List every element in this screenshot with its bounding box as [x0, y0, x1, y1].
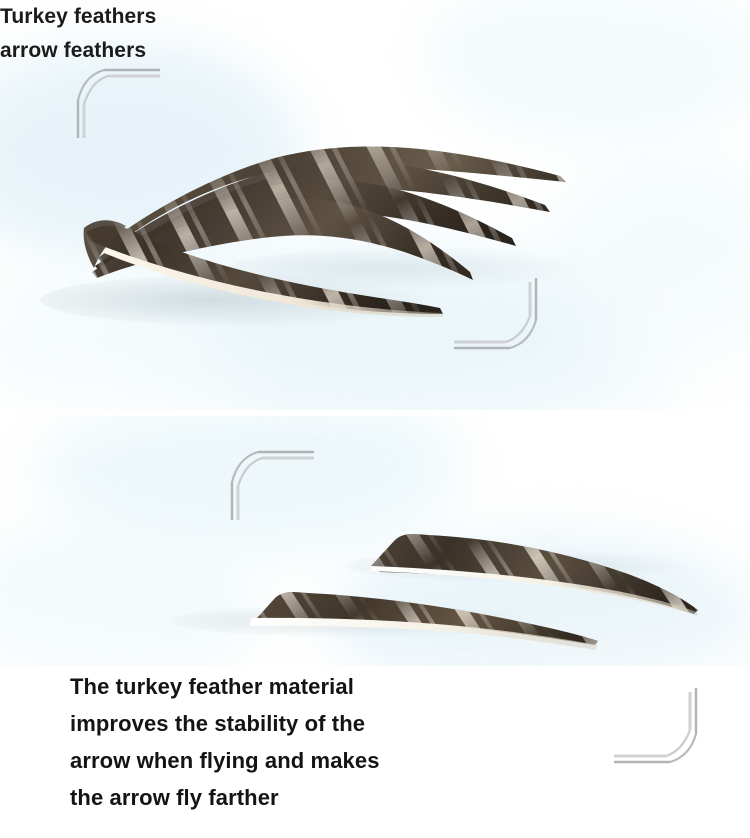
- headline-line-2: arrow feathers: [0, 34, 750, 68]
- product-photo-fletching-pair: [0, 416, 750, 666]
- headline-line-1: Turkey feathers: [0, 0, 750, 34]
- fletching-feather: [250, 592, 598, 650]
- headline-block: Turkey feathers arrow feathers: [0, 0, 750, 68]
- caption-line-2: improves the stability of the: [70, 705, 380, 742]
- fletching-pair-illustration: [0, 416, 750, 666]
- caption-line-4: the arrow fly farther: [70, 779, 380, 816]
- caption-line-3: arrow when flying and makes: [70, 742, 380, 779]
- bracket-bottom-right: [612, 686, 704, 772]
- caption-block: The turkey feather material improves the…: [70, 668, 380, 816]
- product-detail-page: Turkey feathers arrow feathers: [0, 0, 750, 838]
- caption-line-1: The turkey feather material: [70, 668, 380, 705]
